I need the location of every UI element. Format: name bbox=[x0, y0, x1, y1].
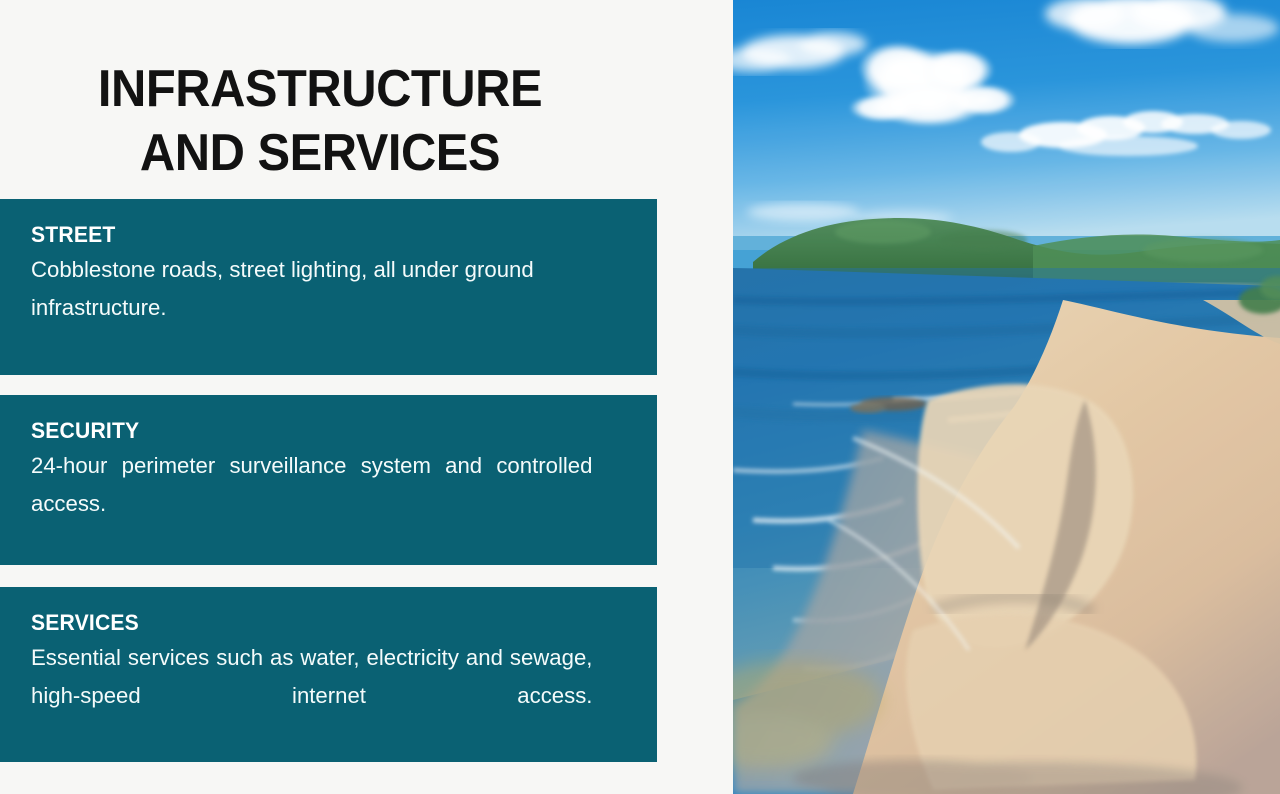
beach-coastline-photo bbox=[733, 0, 1280, 794]
card-heading-street: STREET bbox=[31, 221, 578, 248]
info-card-services: SERVICES Essential services such as wate… bbox=[0, 587, 657, 762]
card-heading-security: SECURITY bbox=[31, 417, 578, 444]
card-body-street: Cobblestone roads, street lighting, all … bbox=[31, 251, 592, 327]
page-title-line-2: AND SERVICES bbox=[19, 121, 621, 185]
card-body-services: Essential services such as water, electr… bbox=[31, 639, 592, 753]
left-content-panel: INFRASTRUCTURE AND SERVICES STREET Cobbl… bbox=[0, 0, 733, 794]
page-title: INFRASTRUCTURE AND SERVICES bbox=[19, 57, 621, 185]
card-heading-services: SERVICES bbox=[31, 609, 578, 636]
page-title-line-1: INFRASTRUCTURE bbox=[19, 57, 621, 121]
slide-root: INFRASTRUCTURE AND SERVICES STREET Cobbl… bbox=[0, 0, 1280, 794]
info-card-street: STREET Cobblestone roads, street lightin… bbox=[0, 199, 657, 375]
info-card-security: SECURITY 24-hour perimeter surveillance … bbox=[0, 395, 657, 565]
card-body-security: 24-hour perimeter surveillance system an… bbox=[31, 447, 592, 561]
beach-photo-illustration bbox=[733, 0, 1280, 794]
